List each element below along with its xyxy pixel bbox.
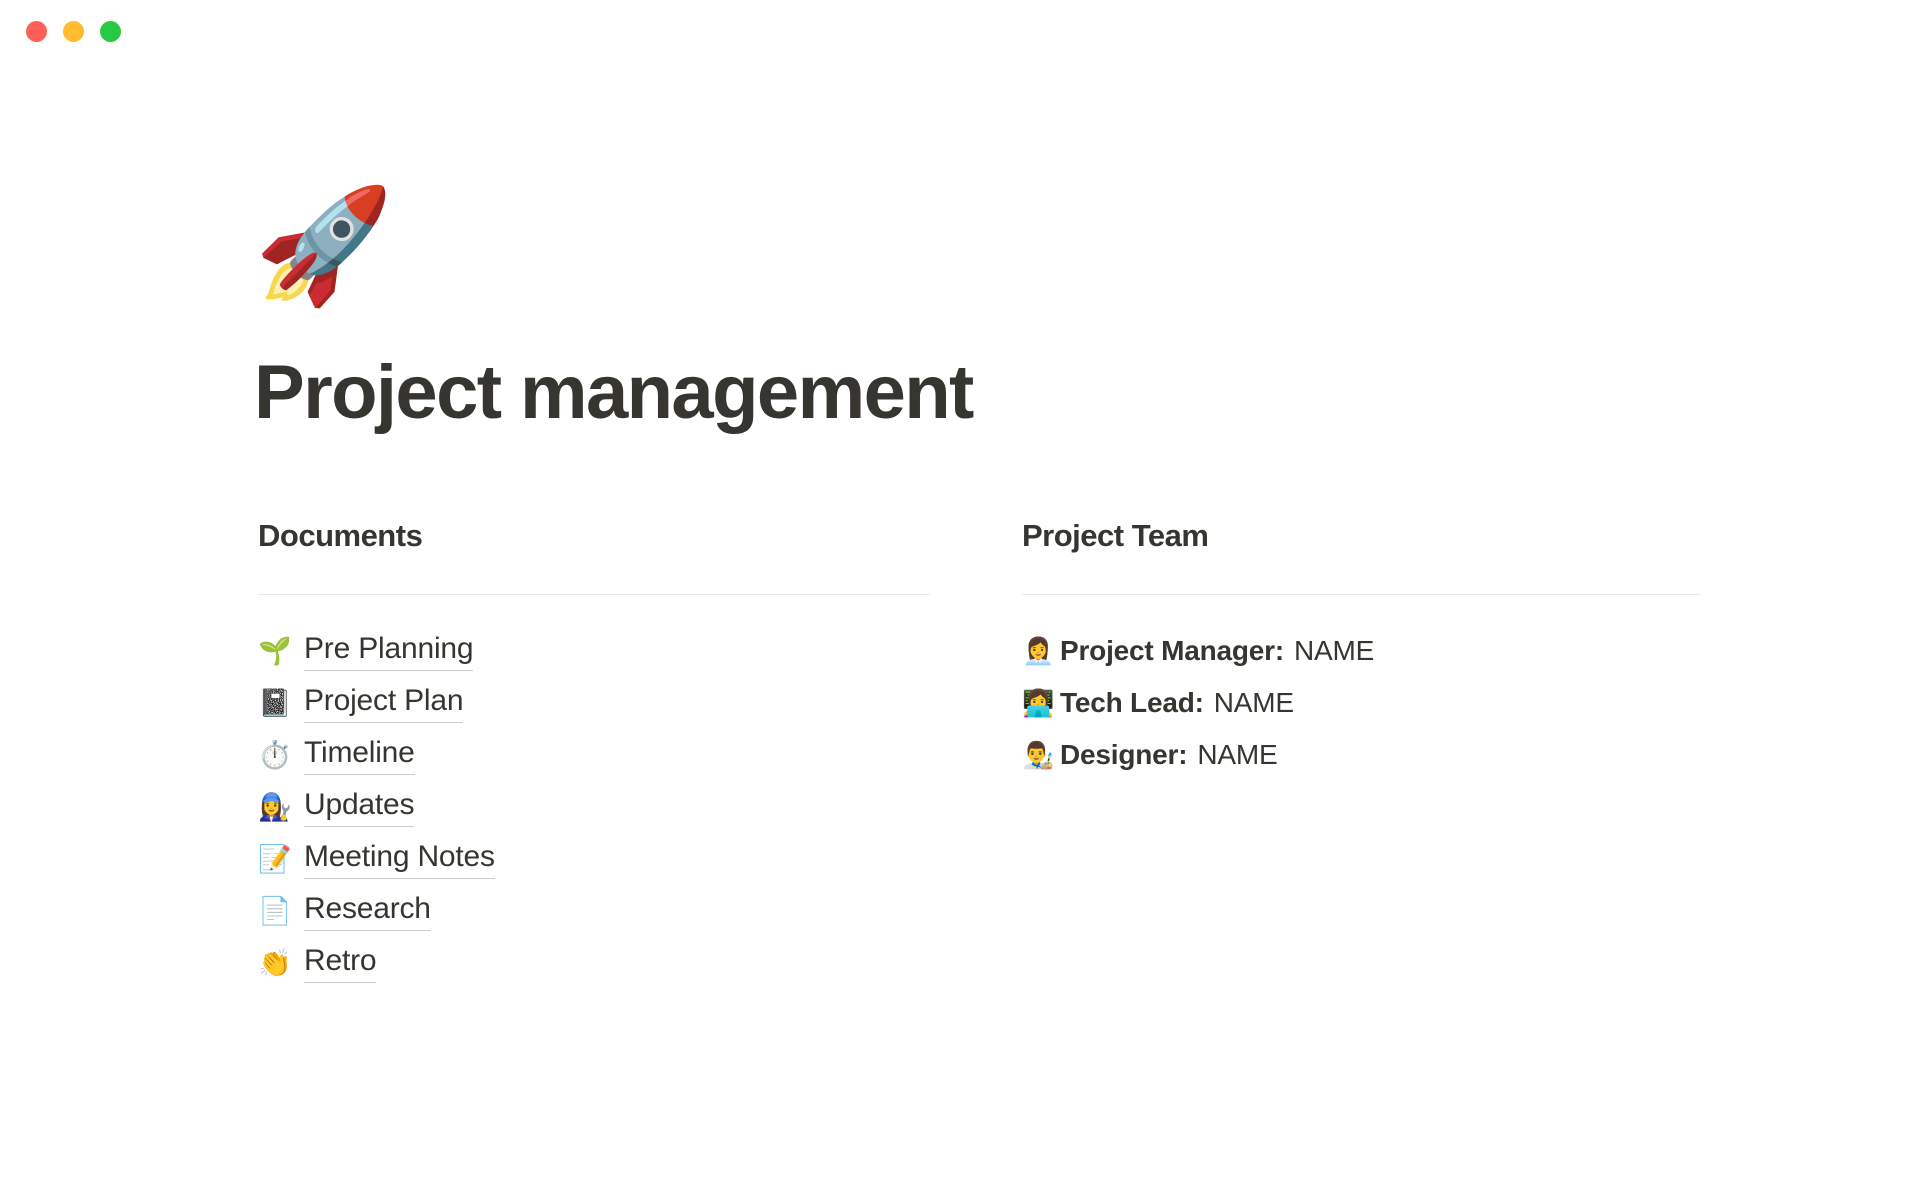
list-item[interactable]: 👩‍🔧 Updates bbox=[258, 781, 930, 833]
documents-divider bbox=[258, 594, 930, 595]
team-member-entry: Project Manager:NAME bbox=[1060, 625, 1374, 677]
rocket-icon[interactable]: 🚀 bbox=[254, 190, 1738, 330]
two-column-layout: Documents 🌱 Pre Planning 📓 Project Plan bbox=[258, 516, 1700, 989]
list-item[interactable]: 📝 Meeting Notes bbox=[258, 833, 930, 885]
document-link[interactable]: Pre Planning bbox=[304, 632, 473, 671]
team-member-role: Project Manager: bbox=[1060, 635, 1284, 666]
page-content: 🚀 Project management Documents 🌱 Pre Pla… bbox=[258, 62, 1738, 989]
document-link[interactable]: Meeting Notes bbox=[304, 840, 495, 879]
document-link[interactable]: Updates bbox=[304, 788, 414, 827]
minimize-window-button[interactable] bbox=[63, 21, 84, 42]
clapping-hands-icon: 👏 bbox=[258, 950, 304, 977]
team-member-name: NAME bbox=[1214, 687, 1294, 718]
stopwatch-icon: ⏱️ bbox=[258, 742, 304, 769]
woman-office-worker-icon: 👩‍💼 bbox=[1022, 638, 1060, 664]
list-item: 👨‍🎨 Designer:NAME bbox=[1022, 729, 1700, 781]
list-item[interactable]: 🌱 Pre Planning bbox=[258, 625, 930, 677]
seedling-icon: 🌱 bbox=[258, 638, 304, 665]
team-member-name: NAME bbox=[1294, 635, 1374, 666]
team-member-entry: Tech Lead:NAME bbox=[1060, 677, 1294, 729]
document-link[interactable]: Retro bbox=[304, 944, 376, 983]
app-window: 🚀 Project management Documents 🌱 Pre Pla… bbox=[0, 0, 1920, 1200]
page-facing-up-icon: 📄 bbox=[258, 898, 304, 925]
spiral-notepad-icon: 📓 bbox=[258, 690, 304, 717]
documents-column: Documents 🌱 Pre Planning 📓 Project Plan bbox=[258, 516, 930, 989]
documents-list: 🌱 Pre Planning 📓 Project Plan ⏱️ Timelin… bbox=[258, 625, 930, 989]
team-member-role: Tech Lead: bbox=[1060, 687, 1204, 718]
woman-technologist-icon: 👩‍💻 bbox=[1022, 690, 1060, 716]
list-item: 👩‍💼 Project Manager:NAME bbox=[1022, 625, 1700, 677]
team-member-entry: Designer:NAME bbox=[1060, 729, 1277, 781]
team-member-name: NAME bbox=[1197, 739, 1277, 770]
team-member-role: Designer: bbox=[1060, 739, 1187, 770]
document-link[interactable]: Project Plan bbox=[304, 684, 463, 723]
project-team-list: 👩‍💼 Project Manager:NAME 👩‍💻 Tech Lead:N… bbox=[1022, 625, 1700, 781]
memo-icon: 📝 bbox=[258, 846, 304, 873]
list-item[interactable]: ⏱️ Timeline bbox=[258, 729, 930, 781]
maximize-window-button[interactable] bbox=[100, 21, 121, 42]
list-item[interactable]: 📄 Research bbox=[258, 885, 930, 937]
man-artist-icon: 👨‍🎨 bbox=[1022, 742, 1060, 768]
close-window-button[interactable] bbox=[26, 21, 47, 42]
documents-heading: Documents bbox=[258, 516, 930, 556]
project-team-divider bbox=[1022, 594, 1700, 595]
traffic-light-group bbox=[26, 21, 121, 42]
document-link[interactable]: Timeline bbox=[304, 736, 415, 775]
list-item: 👩‍💻 Tech Lead:NAME bbox=[1022, 677, 1700, 729]
project-team-heading: Project Team bbox=[1022, 516, 1700, 556]
project-team-column: Project Team 👩‍💼 Project Manager:NAME 👩‍… bbox=[1022, 516, 1700, 989]
woman-mechanic-icon: 👩‍🔧 bbox=[258, 794, 304, 821]
page-title[interactable]: Project management bbox=[254, 352, 1738, 434]
list-item[interactable]: 📓 Project Plan bbox=[258, 677, 930, 729]
list-item[interactable]: 👏 Retro bbox=[258, 937, 930, 989]
window-titlebar bbox=[0, 0, 1920, 62]
document-link[interactable]: Research bbox=[304, 892, 431, 931]
document-page: 🚀 Project management Documents 🌱 Pre Pla… bbox=[0, 62, 1920, 1200]
